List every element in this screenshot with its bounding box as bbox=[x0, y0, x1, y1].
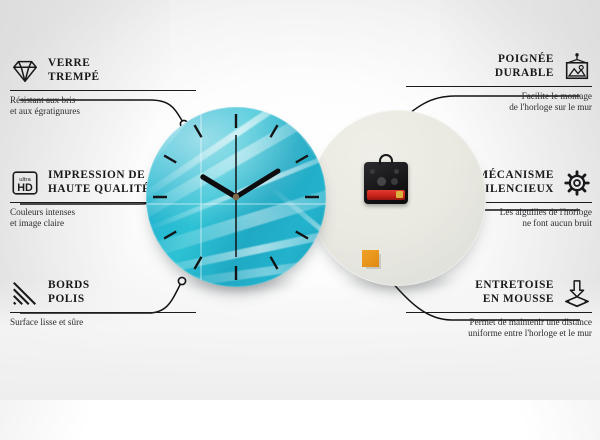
silent-quartz-mechanism[interactable] bbox=[364, 162, 408, 204]
mechanism-spindle bbox=[377, 177, 386, 186]
clock-back-panel[interactable] bbox=[310, 110, 486, 286]
framed-picture-hook-icon bbox=[562, 52, 592, 82]
feature-divider bbox=[10, 90, 196, 91]
hour-hand bbox=[203, 177, 236, 197]
feature-header: POIGNÉE DURABLE bbox=[406, 52, 592, 82]
feature-description: Surface lisse et sûre bbox=[10, 317, 196, 328]
feature-header: ENTRETOISE EN MOUSSE bbox=[406, 278, 592, 308]
ultra-hd-icon: ultra HD bbox=[10, 168, 40, 198]
foam-spacer[interactable] bbox=[362, 250, 379, 267]
feature-divider bbox=[406, 86, 592, 87]
minute-hand bbox=[236, 171, 278, 197]
feature-entretoise-en-mousse: ENTRETOISE EN MOUSSE Permet de maintenir… bbox=[406, 278, 592, 340]
feature-title: POIGNÉE DURABLE bbox=[495, 53, 554, 80]
feature-title: ENTRETOISE EN MOUSSE bbox=[475, 279, 554, 306]
feature-title: IMPRESSION DE HAUTE QUALITÉ bbox=[48, 169, 150, 196]
hanging-hook bbox=[379, 154, 393, 164]
feature-header: VERRE TREMPÉ bbox=[10, 56, 196, 86]
mechanism-dial bbox=[391, 178, 398, 185]
clock-front-face[interactable] bbox=[146, 107, 326, 287]
mechanism-screw bbox=[370, 169, 375, 174]
feature-divider bbox=[10, 312, 196, 313]
feature-title: MÉCANISME SILENCIEUX bbox=[478, 169, 555, 196]
feature-title: BORDS POLIS bbox=[48, 279, 90, 306]
feature-poignee-durable: POIGNÉE DURABLE Facilite le montage de l… bbox=[406, 52, 592, 114]
hd-label: HD bbox=[17, 182, 33, 194]
feature-description: Facilite le montage de l'horloge sur le … bbox=[406, 91, 592, 114]
feature-divider bbox=[406, 312, 592, 313]
battery-terminal bbox=[396, 191, 403, 198]
gear-icon bbox=[562, 168, 592, 198]
hand-cap bbox=[233, 194, 240, 201]
press-down-layers-icon bbox=[562, 278, 592, 308]
clock-dial bbox=[146, 107, 326, 287]
feature-description: Permet de maintenir une distance uniform… bbox=[406, 317, 592, 340]
battery bbox=[367, 190, 405, 200]
feature-title: VERRE TREMPÉ bbox=[48, 57, 100, 84]
infographic-canvas: VERRE TREMPÉ Résistant aux bris et aux é… bbox=[0, 0, 600, 400]
mechanism-screw bbox=[394, 169, 399, 174]
diamond-icon bbox=[10, 56, 40, 86]
beveled-edge-icon bbox=[10, 278, 40, 308]
